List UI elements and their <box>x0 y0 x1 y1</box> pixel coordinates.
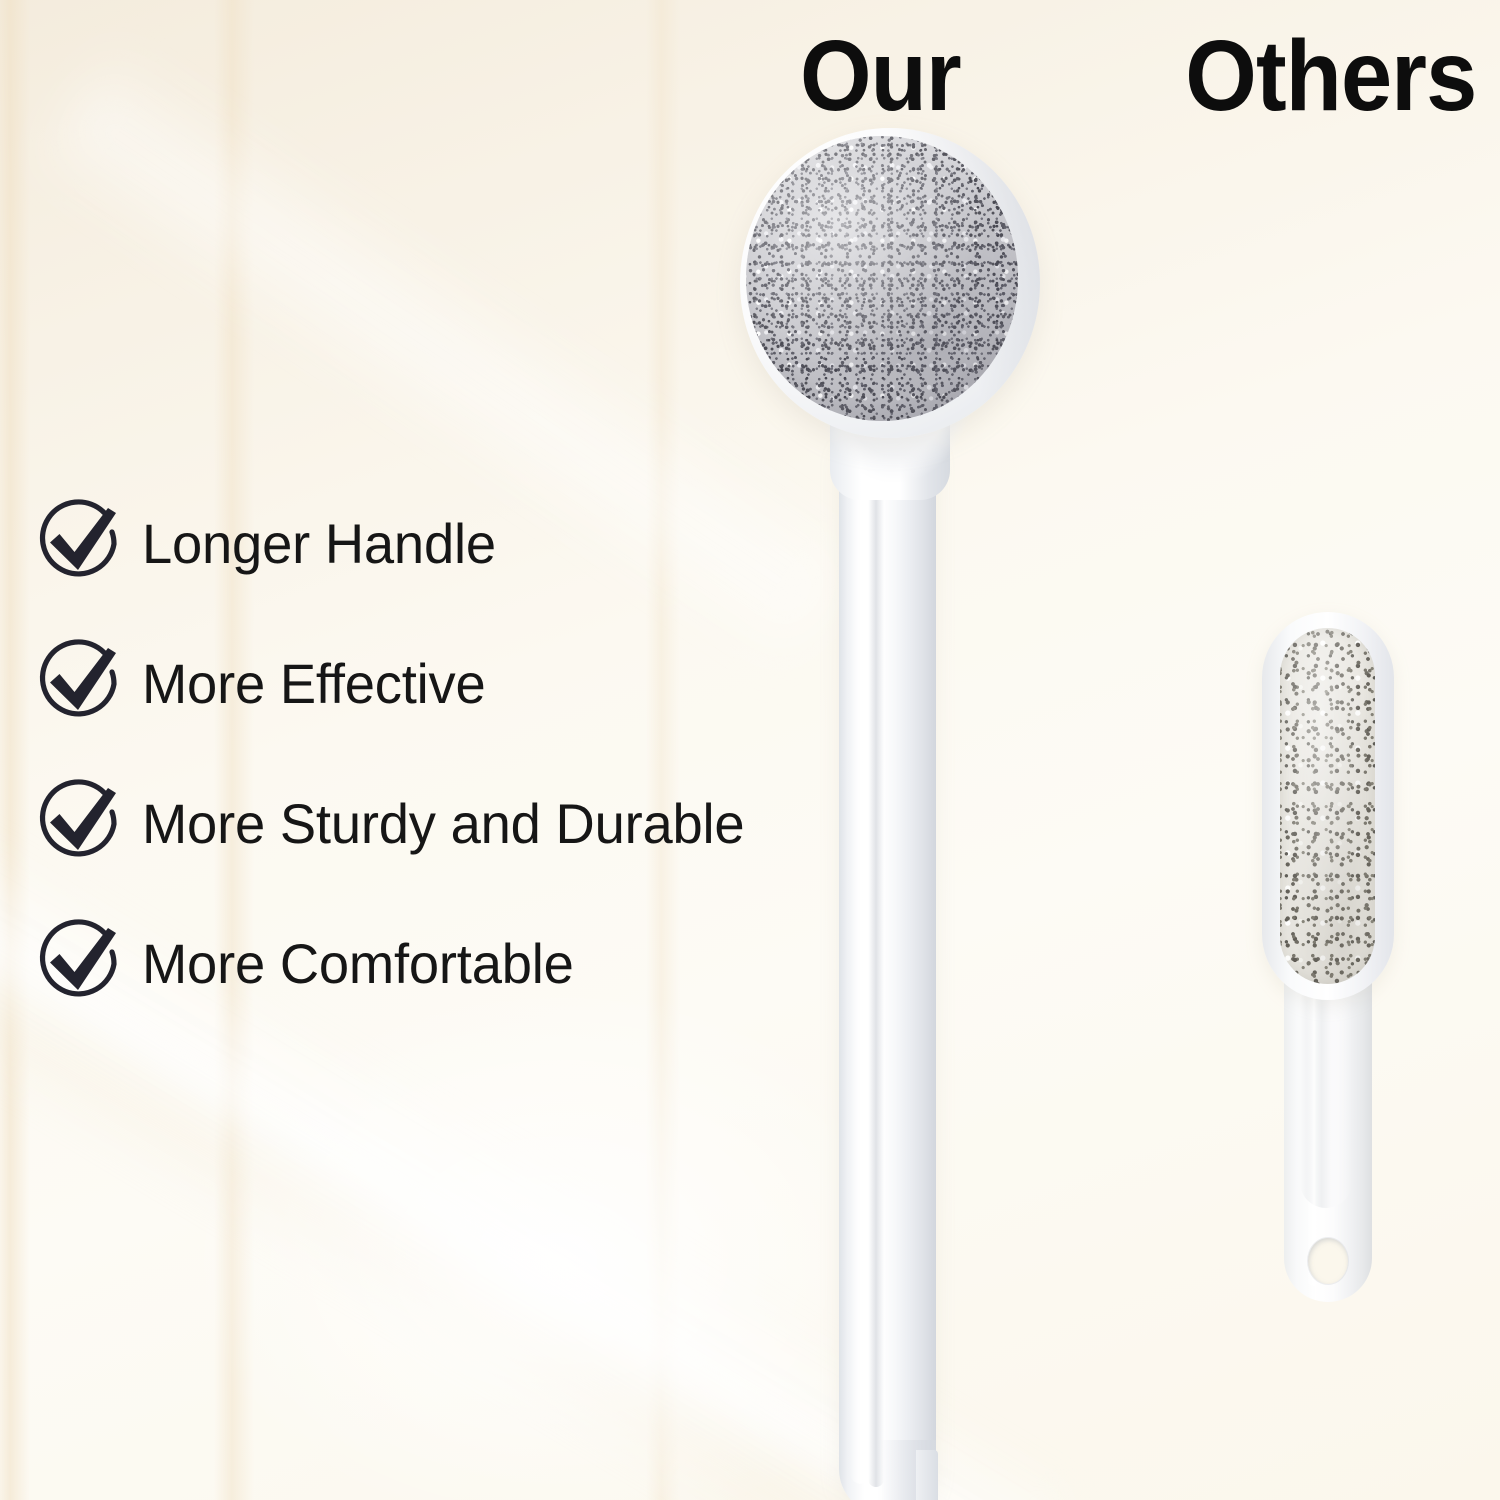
list-item: Longer Handle <box>32 474 792 614</box>
feature-label: More Sturdy and Durable <box>142 796 744 852</box>
column-header-others: Others <box>1185 26 1476 126</box>
background-vertical-streak <box>0 0 30 1500</box>
list-item: More Effective <box>32 614 792 754</box>
check-circle-icon <box>32 638 124 730</box>
feature-label: More Effective <box>142 656 485 712</box>
check-circle-icon <box>32 498 124 590</box>
our-pumice-stone-disc <box>746 136 1018 421</box>
our-handle-highlight <box>850 444 872 1484</box>
list-item: More Sturdy and Durable <box>32 754 792 894</box>
our-handle-notch <box>916 1450 938 1500</box>
feature-label: More Comfortable <box>142 936 574 992</box>
product-image-others <box>1262 612 1402 1312</box>
pumice-shading <box>746 136 1018 421</box>
check-circle-icon <box>32 778 124 870</box>
feature-label: Longer Handle <box>142 516 496 572</box>
others-hanging-hole <box>1308 1238 1348 1284</box>
feature-list: Longer Handle More Effective More Sturdy… <box>32 474 792 1034</box>
list-item: More Comfortable <box>32 894 792 1034</box>
check-circle-icon <box>32 918 124 1010</box>
product-image-ours <box>700 110 1060 1500</box>
comparison-graphic: Our Others Longer Handle More Effective <box>0 0 1500 1500</box>
pumice-shading <box>1280 628 1375 984</box>
others-pumice-pad <box>1280 628 1375 984</box>
